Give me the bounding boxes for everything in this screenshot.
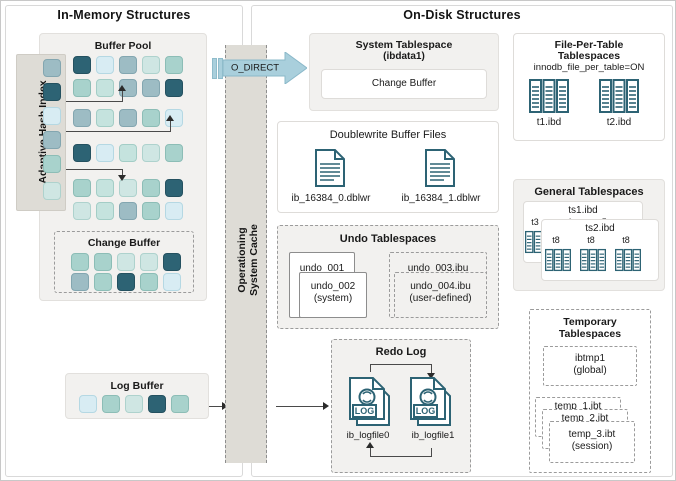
change-buffer-row [71,273,181,291]
change-buffer-row [71,253,181,271]
file-per-table-title-line2: Tablespaces [513,50,665,62]
buffer-pool-cell [73,79,91,97]
redo-circular-line-bottom [370,448,371,456]
file-per-table-file-label: t2.ibd [589,117,649,129]
redo-circular-line-top [370,364,371,372]
buffer-pool-cell [119,56,137,74]
buffer-pool-cell [142,109,160,127]
redo-log-title: Redo Log [331,346,471,358]
buffer-pool-cell [73,179,91,197]
ahi-connector-arrow [118,175,126,181]
general-tablespace-front-table: t8 [614,235,638,246]
system-tablespace-title-line2: (ibdata1) [309,51,499,63]
db-table-icon [615,247,641,273]
redo-log-file-icon: LOG [349,377,391,427]
innodb-architecture-diagram: In-Memory Structures On-Disk Structures … [0,0,676,481]
os-cache-label-line2: System Cache [248,190,260,330]
log-buffer-cell [125,395,143,413]
change-buffer-cell [71,253,89,271]
buffer-pool-cell [119,179,137,197]
temp-session-card-3-line2: (session) [549,441,635,453]
buffer-pool-cell [96,109,114,127]
redo-circular-line-bottom [370,456,432,457]
change-buffer-cell [71,273,89,291]
db-table-icon [545,247,571,273]
buffer-pool-cell [73,109,91,127]
ahi-cell [43,155,61,173]
doublewrite-file-label: ib_16384_0.dblwr [279,193,383,205]
ahi-cell [43,131,61,149]
ahi-cell [43,182,61,200]
redo-circular-line-top [370,364,432,365]
buffer-pool-cell [96,79,114,97]
general-tablespace-front-table: t8 [544,235,568,246]
buffer-pool-cell [73,56,91,74]
buffer-pool-cell [119,109,137,127]
db-table-icon [580,247,606,273]
buffer-pool-row [73,79,183,97]
system-tablespace-title-line1: System Tablespace [309,39,499,51]
redo-log-badge-text: LOG [355,406,375,416]
file-per-table-setting: innodb_file_per_table=ON [509,62,669,74]
buffer-pool-cell [142,56,160,74]
general-tablespace-back-name: ts1.ibd [523,205,643,217]
general-tablespace-front-table: t8 [579,235,603,246]
undo-tablespaces-title: Undo Tablespaces [277,233,499,245]
undo-system-front-line1: undo_002 [299,281,367,293]
odirect-arrow: O_DIRECT [223,52,307,84]
cache-to-redo-line [276,406,324,407]
log-buffer-title: Log Buffer [65,380,209,392]
db-table-icon [529,79,569,113]
temp-global-line2: (global) [543,365,637,377]
ahi-connector-line [170,121,171,131]
buffer-pool-row [73,179,183,197]
general-tablespace-front-name: ts2.ibd [541,223,659,235]
change-buffer-cell [117,253,135,271]
change-buffer-cell [140,273,158,291]
log-buffer-cell [148,395,166,413]
buffer-pool-cell [142,202,160,220]
system-tablespace-change-buffer-label: Change Buffer [321,78,487,90]
temporary-tablespaces-title-line1: Temporary [529,316,651,328]
ahi-cell [43,83,61,101]
odirect-tick [212,58,217,79]
buffer-pool-cell [142,144,160,162]
buffer-pool-cell [96,56,114,74]
document-icon [315,149,345,187]
doublewrite-file-label: ib_16384_1.dblwr [389,193,493,205]
change-buffer-cell [140,253,158,271]
redo-log-badge-text: LOG [416,406,436,416]
temp-global-line1: ibtmp1 [543,353,637,365]
buffer-pool-cell [165,56,183,74]
log-buffer-cell [171,395,189,413]
log-buffer-row [79,395,189,413]
db-table-icon [599,79,639,113]
file-per-table-file-label: t1.ibd [519,117,579,129]
document-icon [425,149,455,187]
change-buffer-cell [163,273,181,291]
ahi-connector-line [122,91,123,101]
buffer-pool-cell [96,144,114,162]
buffer-pool-cell [165,202,183,220]
redo-circular-line-bottom [431,448,432,457]
log-buffer-to-cache-line [209,406,223,407]
temporary-tablespaces-title-line2: Tablespaces [529,328,651,340]
in-memory-structures-title: In-Memory Structures [5,8,243,22]
buffer-pool-cell [142,179,160,197]
change-buffer-cell [94,253,112,271]
buffer-pool-cell [165,179,183,197]
buffer-pool-cell [73,202,91,220]
change-buffer-title: Change Buffer [54,237,194,249]
buffer-pool-cell [119,144,137,162]
buffer-pool-row [73,202,183,220]
change-buffer-cell [94,273,112,291]
doublewrite-buffer-title: Doublewrite Buffer Files [277,129,499,141]
buffer-pool-cell [73,144,91,162]
buffer-pool-cell [142,79,160,97]
temp-session-card-3-line1: temp_3.ibt [549,429,635,441]
redo-circular-arrow-bottom [366,442,374,448]
buffer-pool-cell [119,202,137,220]
redo-log-file-icon: LOG [410,377,452,427]
change-buffer-cell [117,273,135,291]
log-buffer-cell [102,395,120,413]
buffer-pool-row [73,144,183,162]
log-buffer-cell [79,395,97,413]
ahi-connector-line [49,131,171,132]
os-cache-label-line1: Operationing [236,190,248,330]
change-buffer-cell [163,253,181,271]
ahi-connector-arrow [166,115,174,121]
redo-log-file-label: ib_logfile1 [399,430,467,442]
cache-to-redo-arrow [323,402,329,410]
buffer-pool-cell [96,179,114,197]
buffer-pool-title: Buffer Pool [39,40,207,52]
undo-user-front-line1: undo_004.ibu [394,281,487,293]
ahi-connector-arrow [118,85,126,91]
on-disk-structures-title: On-Disk Structures [251,8,673,22]
redo-log-file-label: ib_logfile0 [334,430,402,442]
general-tablespaces-title: General Tablespaces [513,186,665,198]
ahi-cell [43,107,61,125]
odirect-label: O_DIRECT [231,63,279,74]
buffer-pool-cell [96,202,114,220]
buffer-pool-cell [165,144,183,162]
buffer-pool-row [73,56,183,74]
ahi-cell [43,59,61,77]
buffer-pool-cell [165,79,183,97]
undo-user-front-line2: (user-defined) [394,293,487,305]
undo-system-front-line2: (system) [299,293,367,305]
